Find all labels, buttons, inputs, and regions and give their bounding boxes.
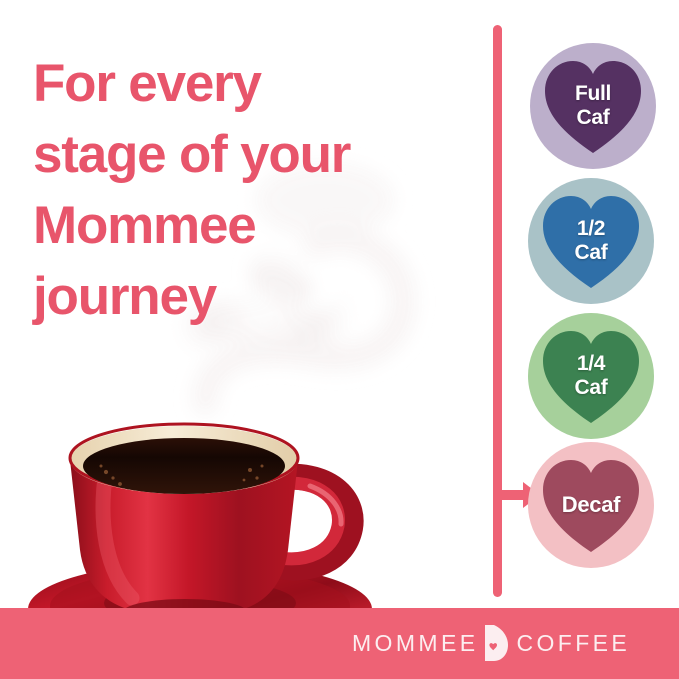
caffeine-level-label: Decaf: [528, 442, 654, 568]
breast-heart-logo-icon: [483, 623, 509, 663]
brand-word-left: MOMMEE: [352, 630, 478, 657]
brand-word-right: COFFEE: [516, 630, 630, 657]
page-title: For every stage of your Mommee journey: [33, 48, 473, 332]
caffeine-level-label: Full Caf: [530, 43, 656, 169]
caffeine-level-half-caf[interactable]: 1/2 Caf: [528, 178, 654, 304]
caffeine-level-full-caf[interactable]: Full Caf: [530, 43, 656, 169]
caffeine-level-label: 1/4 Caf: [528, 313, 654, 439]
caffeine-scale-divider: [493, 25, 502, 597]
caffeine-level-quarter-caf[interactable]: 1/4 Caf: [528, 313, 654, 439]
brand-logo[interactable]: MOMMEE COFFEE: [352, 621, 630, 665]
ad-banner: For every stage of your Mommee journey: [0, 0, 679, 679]
caffeine-level-label: 1/2 Caf: [528, 178, 654, 304]
caffeine-level-decaf[interactable]: Decaf: [528, 442, 654, 568]
